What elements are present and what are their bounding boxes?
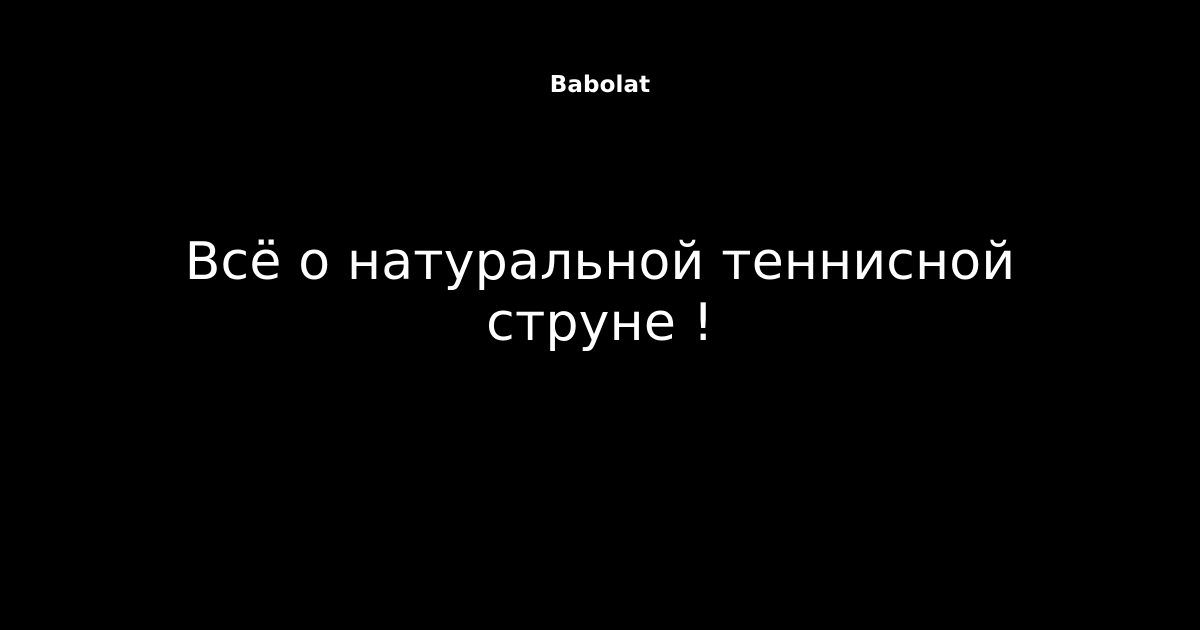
headline-block: Всё о натуральной теннисной струне ! (0, 232, 1200, 355)
brand-row: Babolat (0, 72, 1200, 100)
share-card: Babolat Всё о натуральной теннисной стру… (0, 0, 1200, 630)
page-title: Всё о натуральной теннисной струне ! (0, 232, 1200, 355)
brand-name: Babolat (550, 72, 650, 100)
